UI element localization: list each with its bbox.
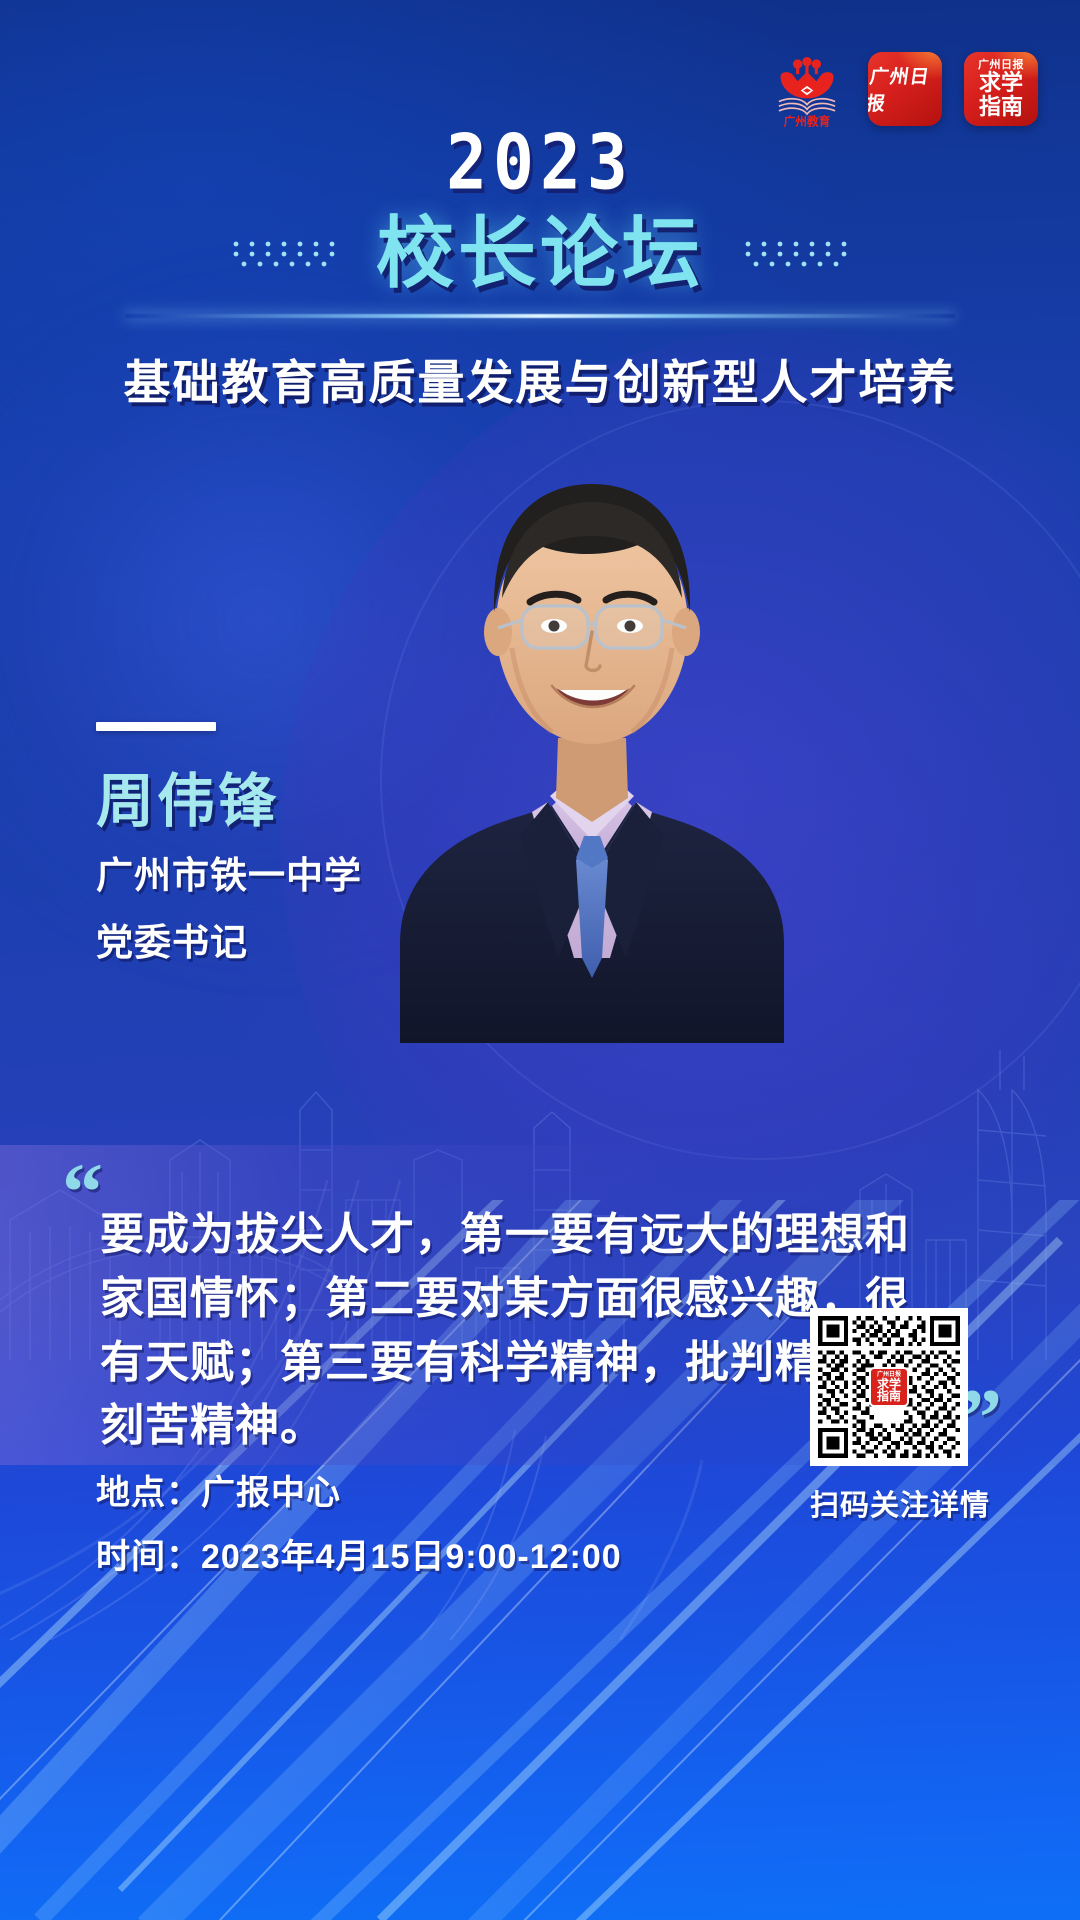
qr-code[interactable]: 广州日报 求学 指南	[810, 1308, 968, 1466]
guangzhou-education-logo[interactable]: 广州教育	[768, 50, 846, 128]
edu-logo-label: 广州教育	[784, 115, 831, 128]
qr-caption: 扫码关注详情	[810, 1482, 990, 1524]
daily-logo-label: 广州日报	[868, 62, 942, 116]
quote-open-mark: “	[62, 1151, 103, 1233]
event-time: 时间：2023年4月15日9:00-12:00	[96, 1525, 622, 1590]
quote-line: 刻苦精神。	[100, 1394, 910, 1458]
speaker-org-line-2: 党委书记	[96, 920, 362, 965]
event-details: 地点：广报中心 时间：2023年4月15日9:00-12:00	[96, 1461, 622, 1590]
quote-text: 要成为拔尖人才，第一要有远大的理想和 家国情怀；第二要对某方面很感兴趣，很 有天…	[100, 1203, 910, 1458]
event-subtitle: 基础教育高质量发展与创新型人才培养	[0, 344, 1080, 413]
title-divider	[125, 314, 955, 318]
speaker-org-line-1: 广州市铁一中学	[96, 853, 362, 898]
qr-center-logo: 广州日报 求学 指南	[869, 1367, 909, 1407]
header-logos: 广州教育 广州日报 广州日报 求学 指南	[768, 50, 1038, 128]
qr-center-main-label-2: 指南	[877, 1390, 901, 1402]
dot-pattern-right	[730, 236, 850, 270]
quote-line: 家国情怀；第二要对某方面很感兴趣，很	[100, 1267, 910, 1331]
qr-section: 广州日报 求学 指南 扫码关注详情	[810, 1308, 990, 1524]
speaker-name-rule	[96, 722, 216, 731]
forum-title-row: 校长论坛	[0, 214, 1080, 292]
event-location: 地点：广报中心	[96, 1461, 622, 1526]
dot-pattern-left	[230, 236, 350, 270]
study-guide-logo[interactable]: 广州日报 求学 指南	[964, 52, 1038, 126]
speaker-portrait	[352, 398, 832, 1043]
forum-title: 校长论坛	[376, 214, 704, 292]
poster-root: 广州教育 广州日报 广州日报 求学 指南 2023	[0, 0, 1080, 1920]
guangzhou-daily-logo[interactable]: 广州日报	[868, 52, 942, 126]
quote-line: 要成为拔尖人才，第一要有远大的理想和	[100, 1203, 910, 1267]
speaker-name: 周伟锋	[96, 773, 362, 831]
event-year: 2023	[446, 126, 634, 202]
title-block: 2023 校长论坛	[0, 130, 1080, 413]
speaker-info: 周伟锋 广州市铁一中学 党委书记	[96, 722, 362, 965]
guide-logo-main-label-2: 指南	[979, 95, 1023, 118]
guide-logo-main-label-1: 求学	[979, 71, 1023, 94]
quote-line: 有天赋；第三要有科学精神，批判精神和	[100, 1331, 910, 1395]
